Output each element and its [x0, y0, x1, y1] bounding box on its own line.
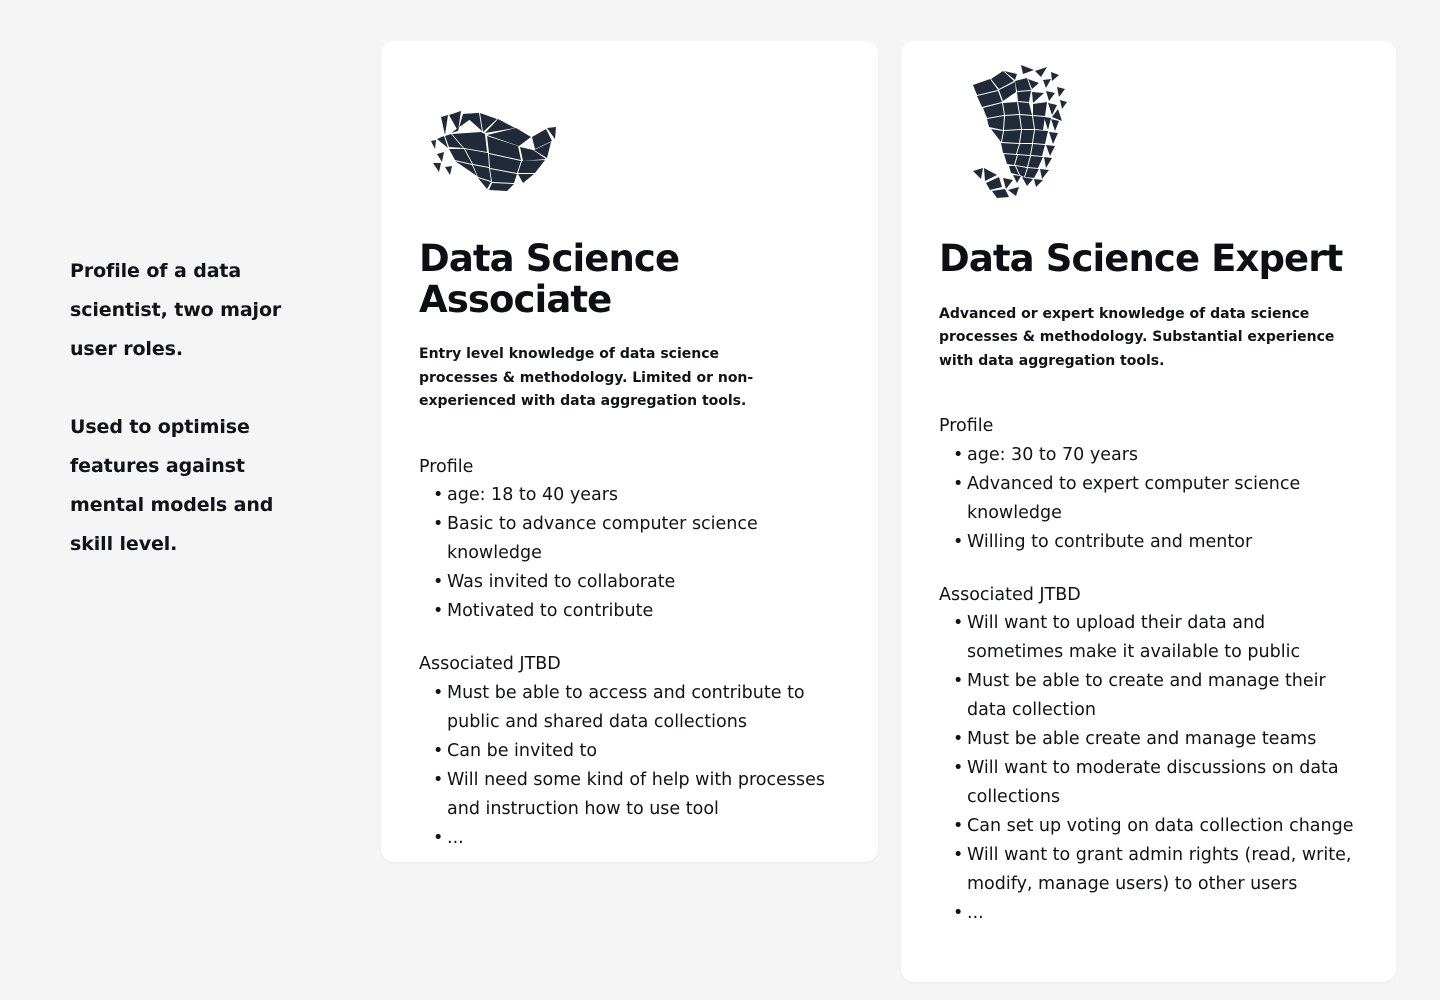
persona-card-expert: Data Science Expert Advanced or expert k…: [901, 41, 1396, 982]
card-summary: Advanced or expert knowledge of data sci…: [939, 303, 1344, 373]
section-jtbd: Associated JTBD Must be able to access a…: [419, 653, 840, 853]
list-item: Motivated to contribute: [419, 597, 840, 626]
list-item: Was invited to collaborate: [419, 568, 840, 597]
card-summary: Entry level knowledge of data science pr…: [419, 343, 779, 413]
persona-card-associate: Data Science Associate Entry level knowl…: [381, 41, 878, 862]
list-item: Will want to moderate discussions on dat…: [939, 754, 1358, 812]
list-item: Must be able create and manage teams: [939, 725, 1358, 754]
low-poly-bowl-illustration: [419, 101, 559, 196]
associate-illustration-wrap: [381, 41, 878, 211]
list-item: Will want to grant admin rights (read, w…: [939, 841, 1358, 899]
list-item: Must be able to create and manage their …: [939, 667, 1358, 725]
section-profile: Profile age: 30 to 70 years Advanced to …: [939, 415, 1358, 557]
expert-card-body: Data Science Expert Advanced or expert k…: [901, 239, 1396, 928]
list-item: Will need some kind of help with process…: [419, 766, 840, 824]
list-item: Willing to contribute and mentor: [939, 528, 1358, 557]
list-item: ...: [939, 899, 1358, 928]
list-item: age: 18 to 40 years: [419, 481, 840, 510]
card-title: Data Science Associate: [419, 239, 840, 320]
section-label: Associated JTBD: [419, 653, 840, 676]
section-profile: Profile age: 18 to 40 years Basic to adv…: [419, 456, 840, 627]
persona-board: Profile of a data scientist, two major u…: [0, 0, 1440, 1000]
section-label: Profile: [419, 456, 840, 479]
expert-illustration-wrap: [901, 41, 1396, 211]
list-item: ...: [419, 824, 840, 853]
list-item: Will want to upload their data and somet…: [939, 609, 1358, 667]
card-title: Data Science Expert: [939, 239, 1358, 280]
section-jtbd: Associated JTBD Will want to upload thei…: [939, 584, 1358, 929]
jtbd-bullet-list: Must be able to access and contribute to…: [419, 679, 840, 853]
list-item: Basic to advance computer science knowle…: [419, 510, 840, 568]
jtbd-bullet-list: Will want to upload their data and somet…: [939, 609, 1358, 928]
intro-paragraph-1: Profile of a data scientist, two major u…: [70, 252, 320, 369]
profile-bullet-list: age: 18 to 40 years Basic to advance com…: [419, 481, 840, 626]
list-item: Advanced to expert computer science know…: [939, 470, 1358, 528]
associate-card-body: Data Science Associate Entry level knowl…: [381, 239, 878, 853]
list-item: age: 30 to 70 years: [939, 441, 1358, 470]
intro-column: Profile of a data scientist, two major u…: [70, 252, 320, 564]
list-item: Can set up voting on data collection cha…: [939, 812, 1358, 841]
section-label: Associated JTBD: [939, 584, 1358, 607]
intro-paragraph-2: Used to optimise features against mental…: [70, 408, 320, 564]
profile-bullet-list: age: 30 to 70 years Advanced to expert c…: [939, 441, 1358, 557]
list-item: Can be invited to: [419, 737, 840, 766]
section-label: Profile: [939, 415, 1358, 438]
low-poly-crescent-illustration: [959, 57, 1074, 207]
list-item: Must be able to access and contribute to…: [419, 679, 840, 737]
